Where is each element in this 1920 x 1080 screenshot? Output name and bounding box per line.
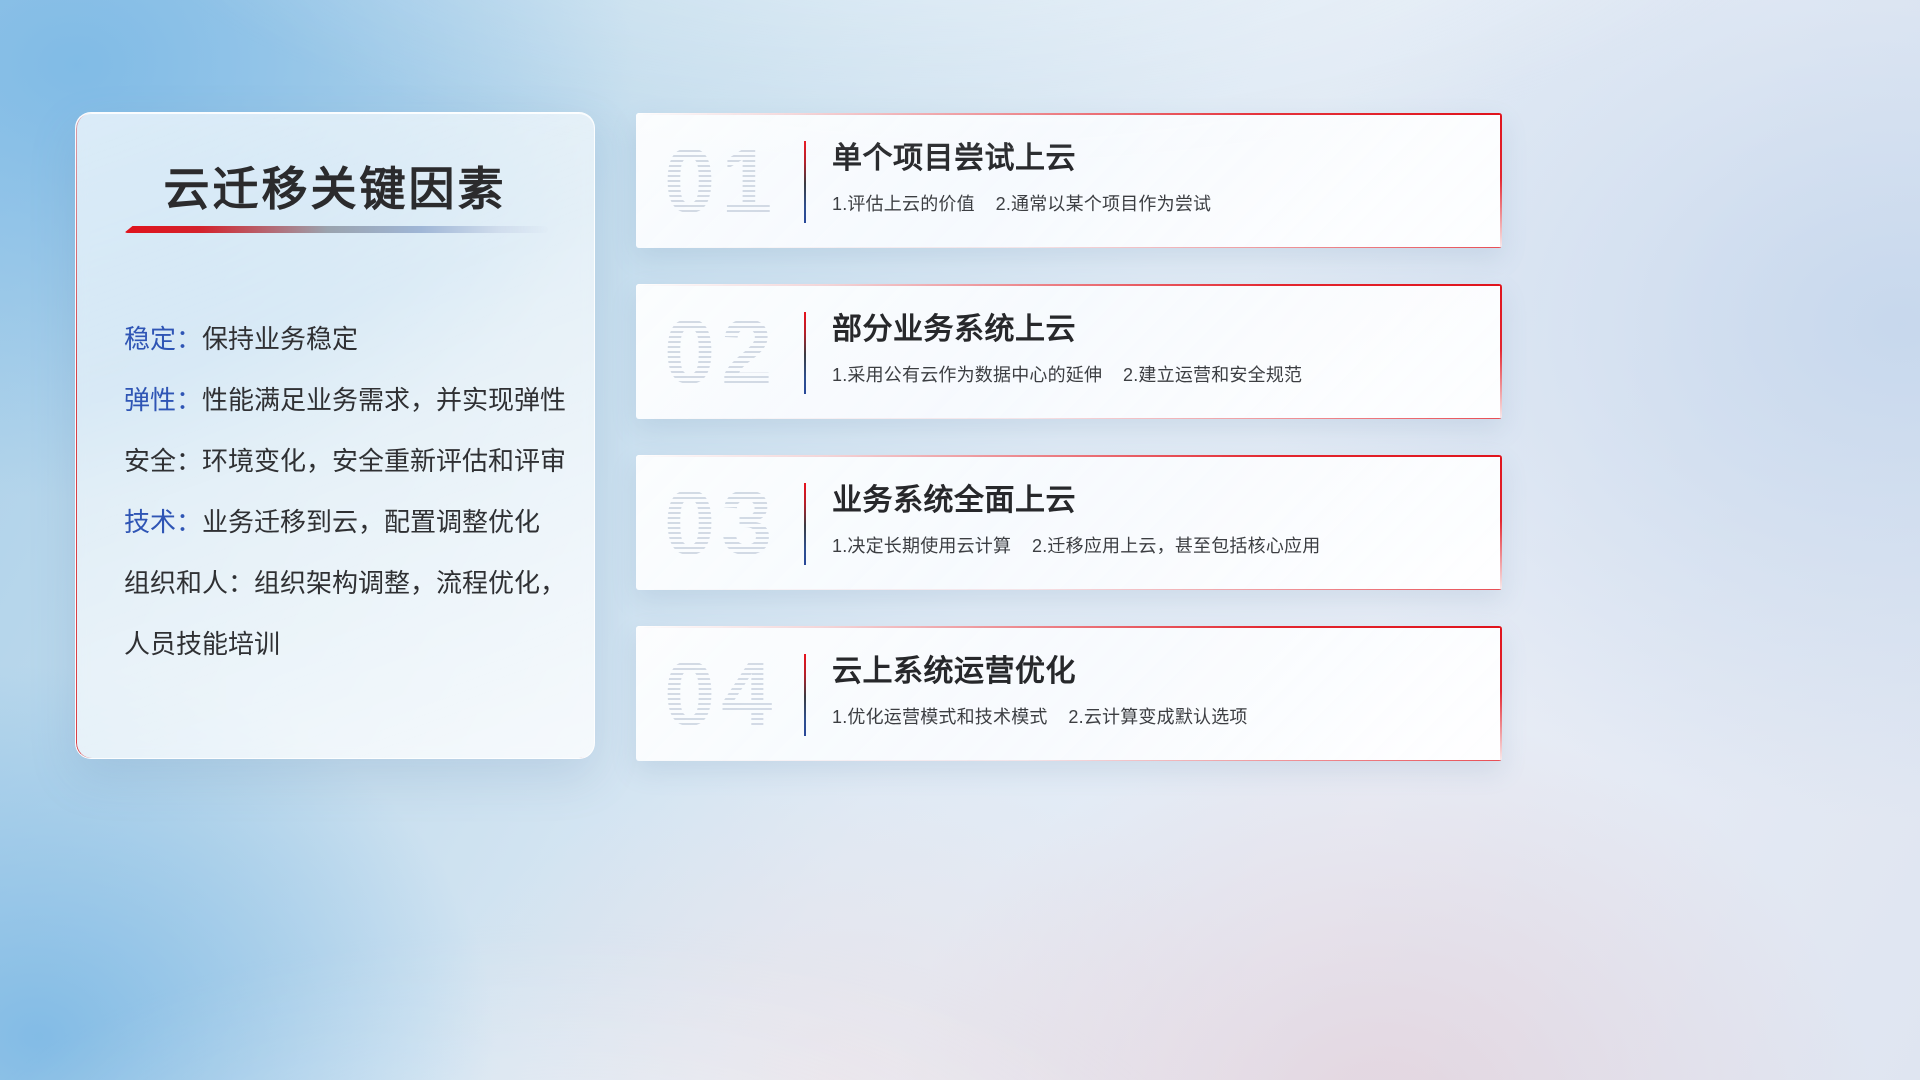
card-top-accent	[636, 284, 1502, 286]
card-title: 业务系统全面上云	[832, 481, 1478, 521]
card-bottom-accent	[636, 589, 1502, 590]
card-divider	[804, 654, 806, 736]
stage-number: 03	[664, 477, 778, 569]
page-title: 云迁移关键因素	[76, 153, 594, 219]
stage-card[interactable]: 02 部分业务系统上云 1.采用公有云作为数据中心的延伸 2.建立运营和安全规范	[636, 284, 1502, 419]
factor-row: 稳定：保持业务稳定	[124, 309, 564, 370]
factor-row: 人员技能培训	[124, 614, 564, 675]
factor-value: 业务迁移到云，配置调整优化	[202, 507, 540, 537]
card-body: 单个项目尝试上云 1.评估上云的价值 2.通常以某个项目作为尝试	[832, 139, 1478, 217]
card-divider	[804, 312, 806, 394]
card-title: 云上系统运营优化	[832, 652, 1478, 692]
factor-label: 安全：	[124, 446, 202, 476]
card-top-accent	[636, 113, 1502, 115]
stage-number: 04	[664, 648, 778, 740]
factor-value: 保持业务稳定	[202, 324, 358, 354]
card-bottom-accent	[636, 247, 1502, 248]
card-body: 业务系统全面上云 1.决定长期使用云计算 2.迁移应用上云，甚至包括核心应用	[832, 481, 1478, 559]
factor-label: 弹性：	[124, 385, 202, 415]
factor-value: 性能满足业务需求，并实现弹性	[202, 385, 566, 415]
key-factors-panel: 云迁移关键因素 稳定：保持业务稳定 弹性：性能满足业务需求，并实现弹性 安全：环…	[75, 112, 595, 759]
factor-value: 人员技能培训	[124, 629, 280, 659]
factor-row: 安全：环境变化，安全重新评估和评审	[124, 431, 564, 492]
factor-row: 技术：业务迁移到云，配置调整优化	[124, 492, 564, 553]
factor-value: 环境变化，安全重新评估和评审	[202, 446, 566, 476]
card-right-accent	[1500, 626, 1502, 761]
title-underline-rule	[124, 226, 548, 233]
slide-canvas: 云迁移关键因素 稳定：保持业务稳定 弹性：性能满足业务需求，并实现弹性 安全：环…	[0, 0, 1920, 1080]
card-description: 1.采用公有云作为数据中心的延伸 2.建立运营和安全规范	[832, 362, 1478, 388]
card-bottom-accent	[636, 418, 1502, 419]
card-title: 部分业务系统上云	[832, 310, 1478, 350]
card-divider	[804, 483, 806, 565]
card-top-accent	[636, 626, 1502, 628]
card-description: 1.优化运营模式和技术模式 2.云计算变成默认选项	[832, 704, 1478, 730]
card-top-accent	[636, 455, 1502, 457]
factor-value: 组织架构调整，流程优化，	[254, 568, 566, 598]
card-right-accent	[1500, 455, 1502, 590]
stage-card-list: 01 单个项目尝试上云 1.评估上云的价值 2.通常以某个项目作为尝试 02 部…	[636, 113, 1502, 797]
stage-card[interactable]: 04 云上系统运营优化 1.优化运营模式和技术模式 2.云计算变成默认选项	[636, 626, 1502, 761]
stage-card[interactable]: 01 单个项目尝试上云 1.评估上云的价值 2.通常以某个项目作为尝试	[636, 113, 1502, 248]
card-description: 1.决定长期使用云计算 2.迁移应用上云，甚至包括核心应用	[832, 533, 1478, 559]
factor-row: 组织和人：组织架构调整，流程优化，	[124, 553, 564, 614]
card-bottom-accent	[636, 760, 1502, 761]
factor-label: 稳定：	[124, 324, 202, 354]
factor-label: 组织和人：	[124, 568, 254, 598]
stage-number: 02	[664, 306, 778, 398]
card-body: 云上系统运营优化 1.优化运营模式和技术模式 2.云计算变成默认选项	[832, 652, 1478, 730]
stage-card[interactable]: 03 业务系统全面上云 1.决定长期使用云计算 2.迁移应用上云，甚至包括核心应…	[636, 455, 1502, 590]
card-title: 单个项目尝试上云	[832, 139, 1478, 179]
card-divider	[804, 141, 806, 223]
factor-list: 稳定：保持业务稳定 弹性：性能满足业务需求，并实现弹性 安全：环境变化，安全重新…	[124, 309, 564, 675]
stage-number: 01	[664, 135, 778, 227]
card-right-accent	[1500, 113, 1502, 248]
card-description: 1.评估上云的价值 2.通常以某个项目作为尝试	[832, 191, 1478, 217]
card-right-accent	[1500, 284, 1502, 419]
factor-label: 技术：	[124, 507, 202, 537]
card-body: 部分业务系统上云 1.采用公有云作为数据中心的延伸 2.建立运营和安全规范	[832, 310, 1478, 388]
factor-row: 弹性：性能满足业务需求，并实现弹性	[124, 370, 564, 431]
